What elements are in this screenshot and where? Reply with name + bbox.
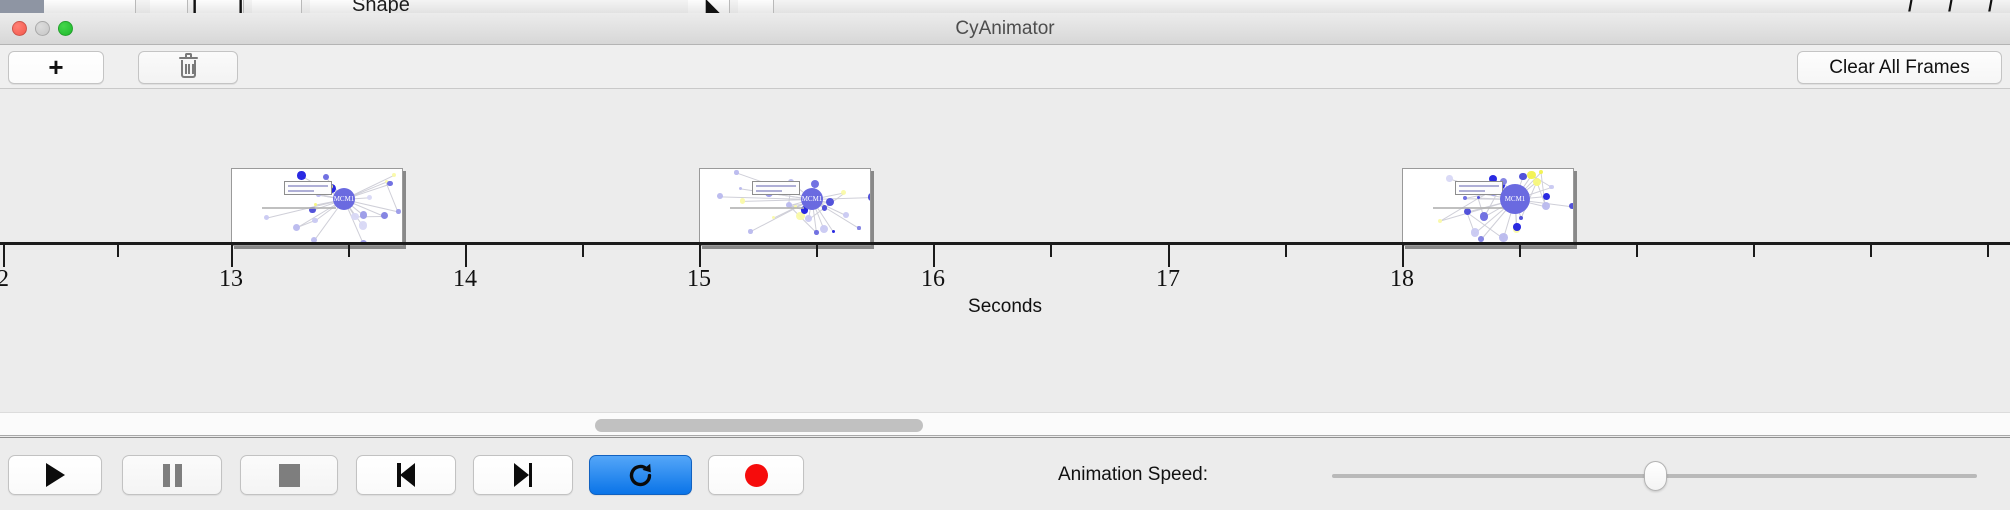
axis-tick — [1870, 245, 1872, 257]
network-node — [387, 181, 392, 186]
scrollbar-thumb[interactable] — [595, 419, 923, 432]
network-thumbnail: MCM1 — [700, 169, 870, 245]
record-icon — [745, 464, 768, 487]
record-button[interactable] — [708, 455, 804, 495]
axis-tick — [582, 245, 584, 257]
background-sidebar — [0, 0, 44, 13]
axis-tick — [1168, 245, 1170, 267]
network-node — [1438, 219, 1442, 223]
network-node — [1549, 185, 1554, 190]
axis-tick — [816, 245, 818, 257]
network-node — [1463, 196, 1467, 200]
network-node — [868, 193, 871, 200]
play-icon — [46, 463, 65, 487]
background-window-label: Shape — [352, 0, 410, 13]
axis-tick-label: 15 — [687, 266, 711, 293]
network-thumbnail: MCM1 — [232, 169, 402, 245]
network-node — [1543, 193, 1550, 200]
axis-tick-label: 14 — [453, 266, 477, 293]
network-node — [1539, 170, 1543, 174]
animation-speed-label: Animation Speed: — [1058, 464, 1208, 486]
stop-icon — [279, 464, 300, 487]
network-caption — [730, 207, 804, 209]
timeline-frame-thumbnail[interactable]: MCM1 — [231, 168, 403, 246]
network-node — [805, 215, 812, 222]
network-caption — [262, 207, 336, 209]
background-tab — [150, 0, 188, 13]
network-node — [1464, 208, 1471, 215]
trash-icon — [179, 57, 198, 79]
background-tab — [738, 0, 774, 13]
network-node — [1446, 175, 1453, 182]
skip-to-start-button[interactable] — [356, 455, 456, 495]
timeline-canvas[interactable]: MCM1MCM1MCM1 2131415161718 Seconds — [0, 90, 2010, 412]
network-node — [820, 225, 828, 233]
background-window-strip: | | ◣ Shape / / / — [0, 0, 2010, 13]
axis-title: Seconds — [0, 296, 2010, 318]
network-thumbnail: MCM1 — [1403, 169, 1573, 245]
skip-to-start-icon — [395, 463, 417, 487]
network-node — [832, 230, 835, 233]
title-bar: CyAnimator — [0, 13, 2010, 45]
network-node — [293, 224, 300, 231]
network-node — [1499, 233, 1508, 242]
network-node — [351, 213, 358, 220]
axis-tick — [1519, 245, 1521, 257]
axis-tick — [117, 245, 119, 257]
axis-tick — [231, 245, 233, 267]
network-node — [1478, 236, 1484, 242]
playback-controls: Animation Speed: — [0, 437, 2010, 510]
axis-tick-label: 17 — [1156, 266, 1180, 293]
network-node — [1519, 173, 1526, 180]
stop-button[interactable] — [240, 455, 338, 495]
add-frame-button[interactable]: + — [8, 51, 104, 84]
loop-icon — [627, 462, 654, 489]
network-node — [1542, 202, 1550, 210]
network-node — [734, 170, 738, 174]
axis-tick — [1050, 245, 1052, 257]
animation-speed-slider[interactable] — [1332, 474, 1977, 478]
network-node — [748, 229, 753, 234]
pause-button[interactable] — [122, 455, 222, 495]
page-title: CyAnimator — [0, 13, 2010, 45]
network-node — [367, 195, 372, 200]
axis-tick — [1285, 245, 1287, 257]
skip-to-end-icon — [512, 463, 534, 487]
background-tab — [196, 0, 244, 13]
network-node — [1480, 212, 1489, 221]
network-node — [1569, 203, 1574, 209]
network-edge — [386, 182, 399, 212]
network-node — [739, 187, 742, 190]
network-node — [717, 193, 723, 199]
network-node — [822, 205, 828, 211]
network-caption — [1433, 207, 1507, 209]
axis-tick — [1636, 245, 1638, 257]
network-hub-node: MCM1 — [801, 188, 823, 210]
background-tab — [44, 0, 136, 13]
axis-tick — [1987, 245, 1989, 257]
network-node — [381, 212, 388, 219]
network-node — [360, 211, 367, 218]
background-tab — [252, 0, 302, 13]
axis-tick-label: 16 — [921, 266, 945, 293]
plus-icon: + — [48, 54, 63, 80]
pause-icon — [163, 464, 182, 487]
network-node — [297, 171, 305, 179]
network-node — [814, 230, 819, 235]
axis-tick-label: 13 — [219, 266, 243, 293]
axis-tick — [465, 245, 467, 267]
slider-thumb[interactable] — [1644, 461, 1667, 491]
axis-tick-label: 18 — [1390, 266, 1414, 293]
network-node — [857, 226, 860, 229]
network-node — [1533, 178, 1541, 186]
clear-all-frames-button[interactable]: Clear All Frames — [1797, 51, 2002, 84]
axis-tick-label: 2 — [0, 266, 9, 293]
network-node — [392, 173, 396, 177]
axis-tick — [348, 245, 350, 257]
network-tooltip — [284, 181, 332, 195]
timeline-axis — [0, 242, 2010, 245]
toolbar: + Clear All Frames — [0, 45, 2010, 89]
timeline-frame-thumbnail[interactable]: MCM1 — [699, 168, 871, 246]
timeline-frame-thumbnail[interactable]: MCM1 — [1402, 168, 1574, 246]
network-node — [396, 209, 400, 213]
clear-all-frames-label: Clear All Frames — [1829, 57, 1969, 79]
network-hub-node: MCM1 — [333, 188, 355, 210]
network-node — [843, 212, 849, 218]
axis-tick — [933, 245, 935, 267]
network-node — [826, 198, 834, 206]
network-node — [811, 180, 819, 188]
network-tooltip — [1455, 181, 1503, 195]
network-node — [841, 190, 847, 196]
network-hub-node: MCM1 — [1500, 184, 1530, 214]
network-node — [312, 218, 317, 223]
network-node — [264, 215, 269, 220]
delete-frame-button[interactable] — [138, 51, 238, 84]
network-node — [740, 198, 745, 203]
horizontal-scrollbar[interactable] — [0, 412, 2010, 436]
skip-to-end-button[interactable] — [473, 455, 573, 495]
axis-tick — [699, 245, 701, 267]
axis-tick — [1402, 245, 1404, 267]
network-tooltip — [752, 181, 800, 195]
network-node — [1513, 223, 1521, 231]
play-button[interactable] — [8, 455, 102, 495]
network-node — [1519, 216, 1523, 220]
axis-tick — [3, 245, 5, 267]
axis-tick — [1753, 245, 1755, 257]
network-node — [359, 221, 368, 230]
network-node — [323, 174, 329, 180]
loop-button[interactable] — [589, 455, 692, 495]
